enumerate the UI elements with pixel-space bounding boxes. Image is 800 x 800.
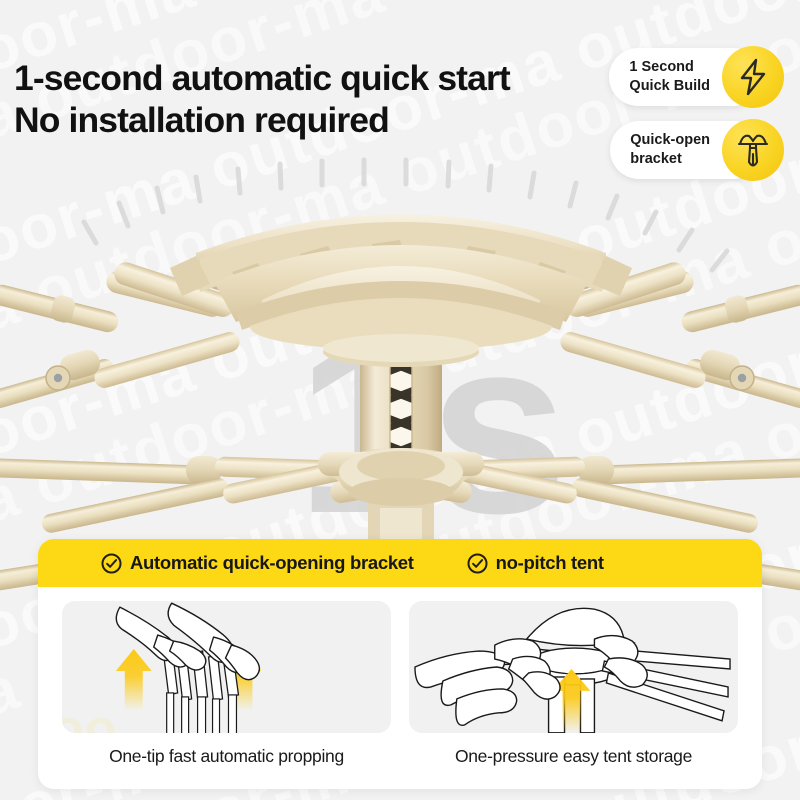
badge-quick-build[interactable]: 1 Second Quick Build: [609, 46, 784, 108]
badge-quick-open-bracket[interactable]: Quick-open bracket: [610, 119, 784, 181]
feature-bar: Automatic quick-opening bracket no-pitch…: [38, 539, 762, 587]
badge-group: 1 Second Quick Build Quick-open bracket: [609, 46, 784, 181]
hand-gripping-poles-illustration: [62, 601, 391, 733]
thumbnail-propping-image: oo: [62, 601, 391, 733]
thumbnail-storage-caption: One-pressure easy tent storage: [455, 746, 692, 767]
check-circle-icon: [466, 552, 489, 575]
product-marketing-image: outdoor-ma outdoor-ma outdoor-ma outdoor…: [0, 0, 800, 800]
thumbnail-propping: oo: [62, 601, 391, 767]
up-arrow-icon: [116, 649, 152, 711]
feature-item-tent-label: no-pitch tent: [496, 552, 604, 574]
check-circle-icon: [100, 552, 123, 575]
hands-pressing-hub-illustration: [409, 601, 738, 733]
badge-quick-open-line1: Quick-open: [630, 131, 710, 150]
tent-bracket-icon: [722, 119, 784, 181]
thumbnail-propping-caption: One-tip fast automatic propping: [109, 746, 344, 767]
badge-quick-build-line1: 1 Second: [629, 58, 710, 77]
headline-line-2: No installation required: [14, 100, 510, 142]
thumbnail-storage: One-pressure easy tent storage: [409, 601, 738, 767]
thumbnail-storage-image: [409, 601, 738, 733]
feature-item-tent: no-pitch tent: [466, 552, 604, 575]
feature-item-bracket-label: Automatic quick-opening bracket: [130, 552, 414, 574]
feature-panel: Automatic quick-opening bracket no-pitch…: [38, 539, 762, 789]
badge-quick-build-line2: Quick Build: [629, 77, 710, 96]
badge-quick-open-line2: bracket: [630, 150, 710, 169]
feature-item-bracket: Automatic quick-opening bracket: [100, 552, 414, 575]
lower-hub: [318, 448, 484, 506]
headline-line-1: 1-second automatic quick start: [14, 58, 510, 98]
lightning-bolt-icon: [722, 46, 784, 108]
page-title: 1-second automatic quick start No instal…: [14, 58, 510, 142]
thumbnail-row: oo: [38, 587, 762, 767]
